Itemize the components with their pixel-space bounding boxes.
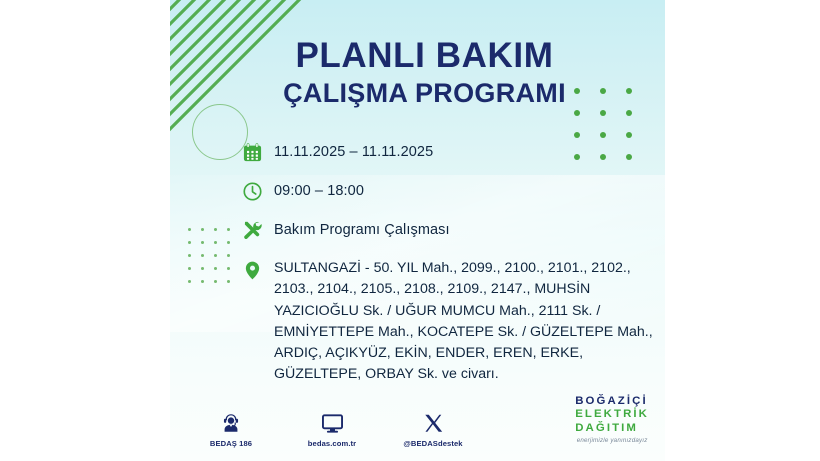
location-pin-icon xyxy=(238,256,266,283)
info-list: 11.11.2025 – 11.11.2025 09:00 – 18:00 xyxy=(238,139,658,386)
contact-twitter[interactable]: @BEDASdestek xyxy=(396,409,470,448)
poster-footer: BEDAŞ 186 bedas.com.tr xyxy=(170,398,665,448)
info-row-address: SULTANGAZİ - 50. YIL Mah., 2099., 2100.,… xyxy=(238,256,658,386)
clock-icon xyxy=(238,178,266,204)
contact-channels: BEDAŞ 186 bedas.com.tr xyxy=(194,409,470,448)
calendar-icon xyxy=(238,139,266,165)
dot-grid-decoration-left xyxy=(188,228,240,293)
brand-line-dagitim: DAĞITIM xyxy=(575,422,649,435)
planned-maintenance-poster: PLANLI BAKIM ÇALIŞMA PROGRAMI xyxy=(170,0,665,461)
brand-line-elektrik: ELEKTRİK xyxy=(575,408,649,421)
maintenance-time-range: 09:00 – 18:00 xyxy=(274,178,364,202)
brand-tagline: enerjimizle yanınızdayız xyxy=(575,437,649,444)
contact-phone-label: BEDAŞ 186 xyxy=(210,439,252,448)
info-row-date: 11.11.2025 – 11.11.2025 xyxy=(238,139,658,165)
bedas-logo: BOĞAZİÇİ ELEKTRİK DAĞITIM enerjimizle ya… xyxy=(575,395,649,444)
contact-phone[interactable]: BEDAŞ 186 xyxy=(194,409,268,448)
page-subtitle: ÇALIŞMA PROGRAMI xyxy=(170,78,665,110)
page-title: PLANLI BAKIM xyxy=(170,37,665,74)
monitor-icon xyxy=(321,409,344,434)
x-twitter-icon xyxy=(423,409,444,434)
maintenance-work-type: Bakım Programı Çalışması xyxy=(274,217,450,241)
contact-twitter-label: @BEDASdestek xyxy=(403,439,462,448)
contact-website[interactable]: bedas.com.tr xyxy=(295,409,369,448)
affected-address-list: SULTANGAZİ - 50. YIL Mah., 2099., 2100.,… xyxy=(274,256,658,386)
brand-line-bogazici: BOĞAZİÇİ xyxy=(575,395,649,408)
maintenance-date-range: 11.11.2025 – 11.11.2025 xyxy=(274,139,433,163)
info-row-worktype: Bakım Programı Çalışması xyxy=(238,217,658,243)
info-row-time: 09:00 – 18:00 xyxy=(238,178,658,204)
contact-website-label: bedas.com.tr xyxy=(308,439,356,448)
poster-heading: PLANLI BAKIM ÇALIŞMA PROGRAMI xyxy=(170,37,665,110)
tools-icon xyxy=(238,217,266,243)
call-center-agent-icon xyxy=(220,409,242,434)
